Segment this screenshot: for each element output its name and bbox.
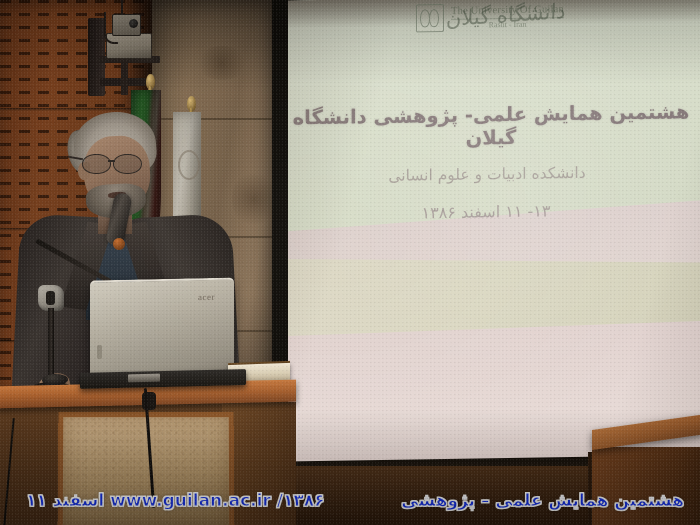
camera-lens-icon bbox=[129, 19, 138, 28]
stone-blotch bbox=[196, 46, 248, 80]
eyeglass-lens-right bbox=[113, 154, 142, 174]
eyeglass-lens-left bbox=[82, 154, 111, 174]
desk-front-panel bbox=[592, 447, 700, 525]
laptop-latch bbox=[97, 345, 102, 359]
guilan-university-logo-icon bbox=[416, 4, 444, 32]
laptop-port bbox=[128, 374, 160, 383]
eyeglass-bridge bbox=[108, 160, 115, 162]
camera-cable bbox=[104, 12, 118, 44]
slide-title: هشتمین همایش علمی- پژوهشی دانشگاه گیلان bbox=[288, 100, 694, 152]
photograph-frame: The University Of Guilan Rasht - Iran دا… bbox=[0, 0, 700, 525]
projection-screen: The University Of Guilan Rasht - Iran دا… bbox=[288, 0, 700, 470]
caption-website-and-date: www.guilan.ac.ir /۱۳۸۶ اسفند ۱۱ bbox=[26, 491, 324, 511]
caption-event-name: هشتمین همایش علمی – پژوهشی bbox=[401, 491, 684, 511]
laptop-brand-logo: acer bbox=[198, 292, 215, 302]
eyeglasses-icon bbox=[80, 154, 150, 173]
